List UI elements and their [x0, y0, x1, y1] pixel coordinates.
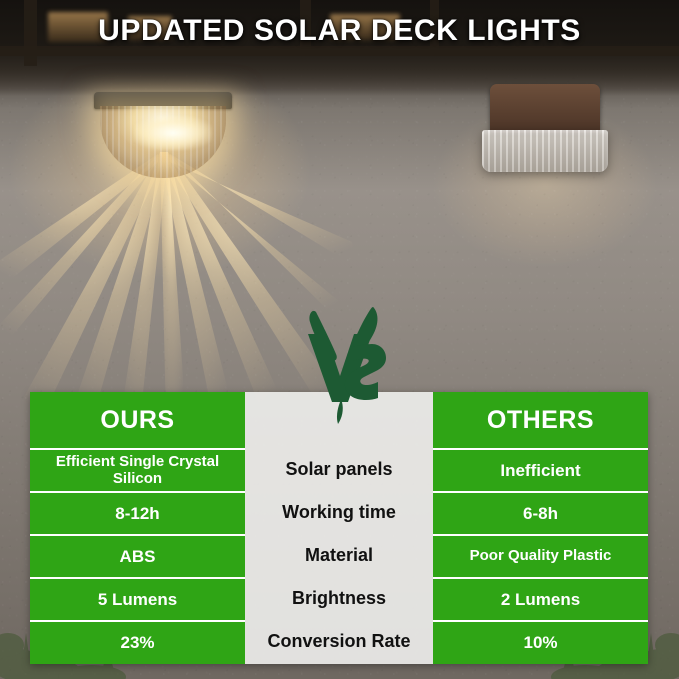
column-feature: Solar panels Working time Material Brigh… — [245, 392, 433, 664]
lamp-glass-lens-unlit — [482, 130, 608, 172]
cell-feature-4: Conversion Rate — [245, 620, 433, 663]
lamp-housing-brown — [490, 84, 600, 134]
cell-others-4: 10% — [433, 620, 648, 663]
page-title: UPDATED SOLAR DECK LIGHTS — [0, 14, 679, 48]
lamp-glass-lens — [100, 106, 226, 178]
cell-feature-3: Brightness — [245, 577, 433, 620]
cell-others-3: 2 Lumens — [433, 577, 648, 620]
cell-ours-0: Efficient Single Crystal Silicon — [30, 448, 245, 491]
cell-feature-0: Solar panels — [245, 448, 433, 491]
cell-others-2: Poor Quality Plastic — [433, 534, 648, 577]
lens-ridges — [482, 130, 608, 172]
column-ours: OURS Efficient Single Crystal Silicon 8-… — [30, 392, 245, 664]
cell-ours-2: ABS — [30, 534, 245, 577]
solar-deck-light-ours — [90, 92, 236, 188]
cell-ours-3: 5 Lumens — [30, 577, 245, 620]
header-ours: OURS — [30, 392, 245, 448]
cell-others-0: Inefficient — [433, 448, 648, 491]
comparison-table: OURS Efficient Single Crystal Silicon 8-… — [30, 392, 648, 664]
cell-ours-4: 23% — [30, 620, 245, 663]
cell-others-1: 6-8h — [433, 491, 648, 534]
vs-badge — [286, 306, 394, 424]
column-others: OTHERS Inefficient 6-8h Poor Quality Pla… — [433, 392, 648, 664]
cell-ours-1: 8-12h — [30, 491, 245, 534]
product-comparison-image: UPDATED SOLAR DECK LIGHTS OURS Efficient… — [0, 0, 679, 679]
lamp-hotspot — [134, 116, 212, 150]
header-others: OTHERS — [433, 392, 648, 448]
cell-feature-2: Material — [245, 534, 433, 577]
solar-deck-light-others — [482, 84, 608, 172]
cell-feature-1: Working time — [245, 491, 433, 534]
